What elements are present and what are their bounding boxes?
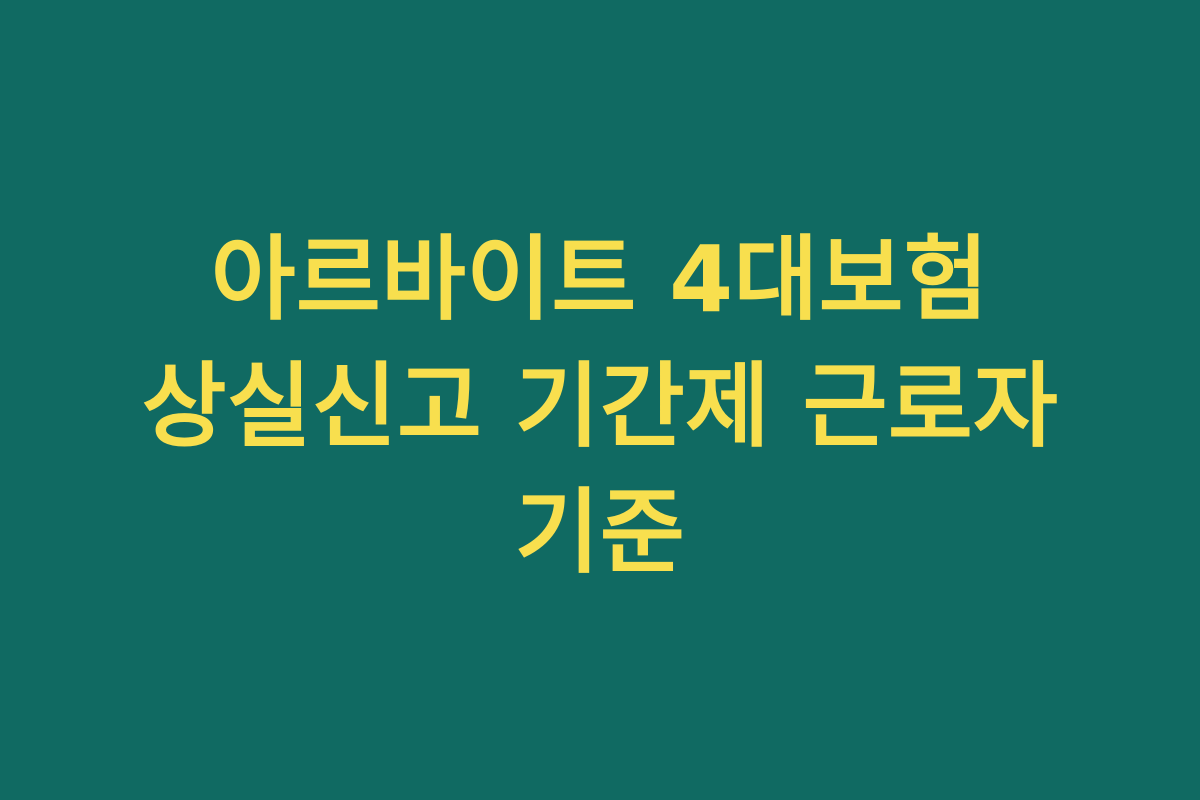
title-block: 아르바이트 4대보험 상실신고 기간제 근로자 기준 (100, 217, 1100, 598)
page-title: 아르바이트 4대보험 상실신고 기간제 근로자 기준 (106, 217, 1094, 598)
title-card: 아르바이트 4대보험 상실신고 기간제 근로자 기준 (0, 0, 1200, 800)
